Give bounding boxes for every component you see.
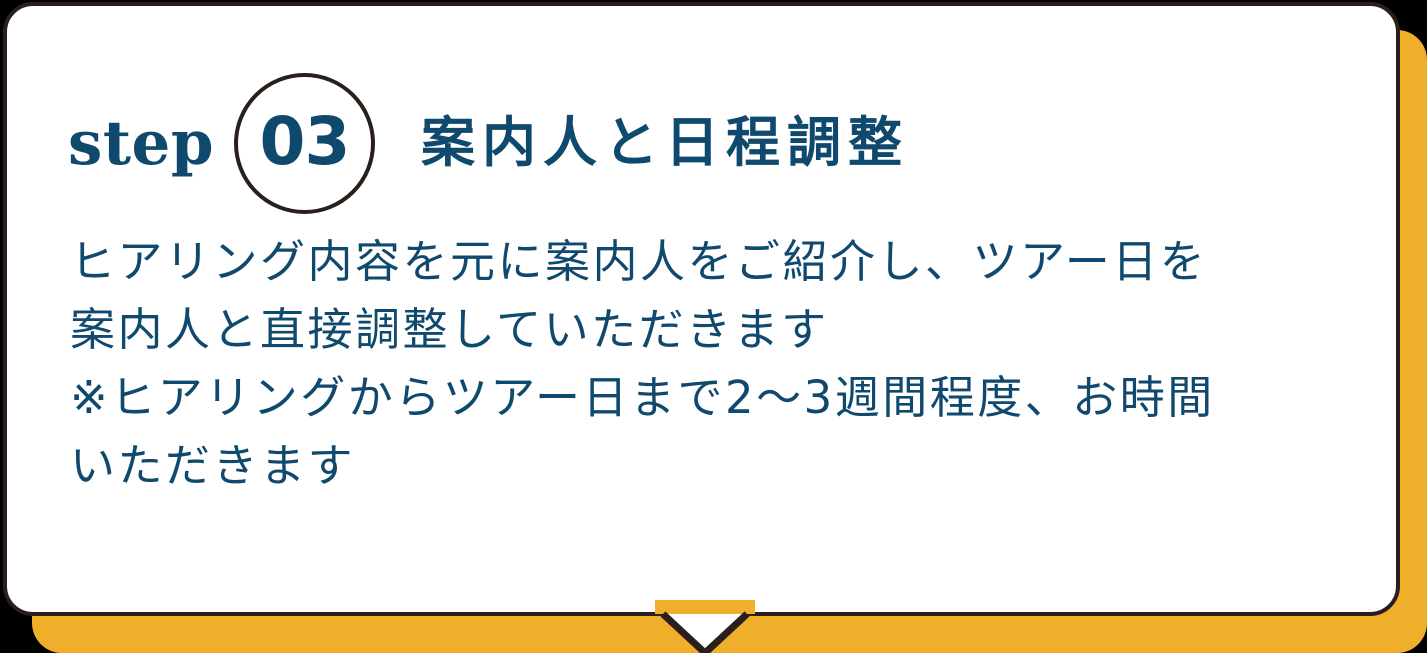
description-line: 案内人と直接調整していただきます [70, 296, 1370, 364]
step-number-circle: 03 [234, 73, 375, 214]
step-card-stage: step 03 案内人と日程調整 ヒアリング内容を元に案内人をご紹介し、ツアー日… [0, 0, 1427, 653]
step-header: step 03 案内人と日程調整 [0, 78, 1427, 208]
step-number: 03 [260, 109, 350, 175]
description-line: ヒアリング内容を元に案内人をご紹介し、ツアー日を [70, 228, 1370, 296]
step-description: ヒアリング内容を元に案内人をご紹介し、ツアー日を 案内人と直接調整していただきま… [70, 228, 1370, 500]
step-label: step [68, 113, 214, 174]
description-line: ※ヒアリングからツアー日まで2〜3週間程度、お時間 [70, 364, 1370, 432]
step-title: 案内人と日程調整 [421, 116, 909, 170]
chevron-down-notch-icon [655, 600, 755, 653]
description-line: いただきます [70, 432, 1370, 500]
